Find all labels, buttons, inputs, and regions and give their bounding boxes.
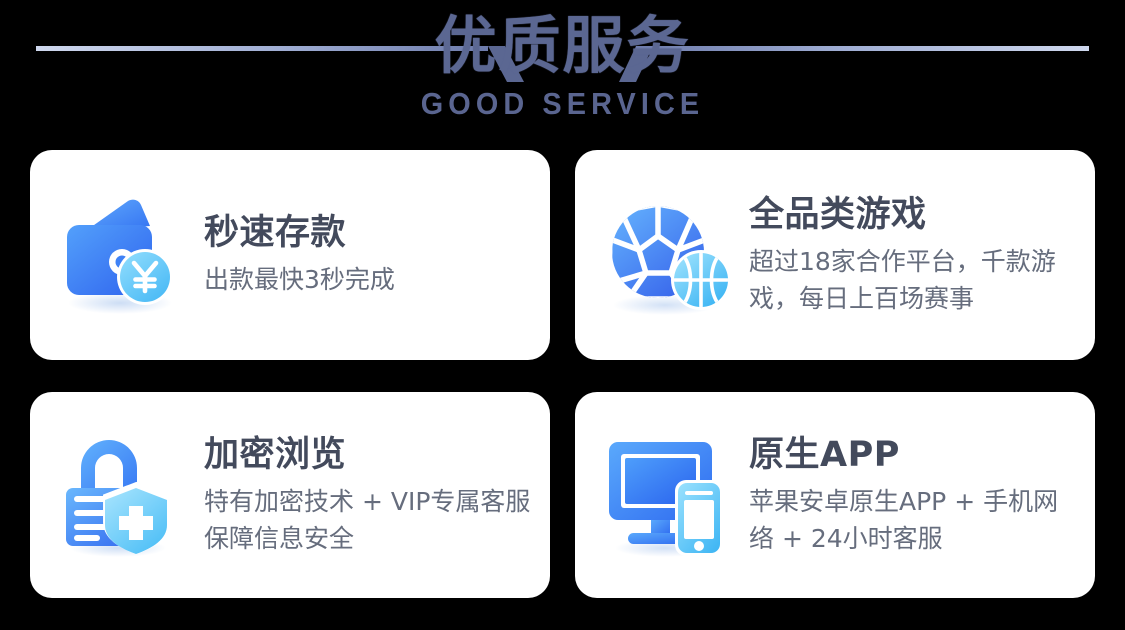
page-title-cn: 优质服务 bbox=[0, 8, 1125, 84]
card-title: 原生APP bbox=[749, 433, 1077, 477]
card-text-block: 秒速存款 出款最快3秒完成 bbox=[204, 211, 532, 299]
service-card-native-app[interactable]: 原生APP 苹果安卓原生APP + 手机网络 + 24小时客服 bbox=[575, 392, 1095, 598]
soccer-basketball-icon bbox=[601, 190, 741, 320]
lock-shield-icon bbox=[56, 430, 196, 560]
card-description: 苹果安卓原生APP + 手机网络 + 24小时客服 bbox=[749, 483, 1077, 557]
service-card-games[interactable]: 全品类游戏 超过18家合作平台，千款游戏，每日上百场赛事 bbox=[575, 150, 1095, 360]
card-text-block: 原生APP 苹果安卓原生APP + 手机网络 + 24小时客服 bbox=[749, 433, 1077, 557]
page-title-en: GOOD SERVICE bbox=[39, 86, 1085, 122]
service-card-grid: 秒速存款 出款最快3秒完成 bbox=[30, 150, 1095, 598]
header-title-block: 优质服务 GOOD SERVICE bbox=[0, 8, 1125, 122]
card-title: 全品类游戏 bbox=[749, 193, 1077, 237]
service-card-deposit[interactable]: 秒速存款 出款最快3秒完成 bbox=[30, 150, 550, 360]
monitor-phone-icon bbox=[601, 430, 741, 560]
card-text-block: 全品类游戏 超过18家合作平台，千款游戏，每日上百场赛事 bbox=[749, 193, 1077, 317]
card-description: 出款最快3秒完成 bbox=[204, 261, 532, 299]
wallet-yen-icon bbox=[56, 190, 196, 320]
card-description: 特有加密技术 + VIP专属客服保障信息安全 bbox=[204, 483, 532, 557]
card-title: 加密浏览 bbox=[204, 433, 532, 477]
card-title: 秒速存款 bbox=[204, 211, 532, 255]
card-description: 超过18家合作平台，千款游戏，每日上百场赛事 bbox=[749, 243, 1077, 317]
card-text-block: 加密浏览 特有加密技术 + VIP专属客服保障信息安全 bbox=[204, 433, 532, 557]
service-card-encryption[interactable]: 加密浏览 特有加密技术 + VIP专属客服保障信息安全 bbox=[30, 392, 550, 598]
page-header: 优质服务 GOOD SERVICE bbox=[0, 0, 1125, 145]
